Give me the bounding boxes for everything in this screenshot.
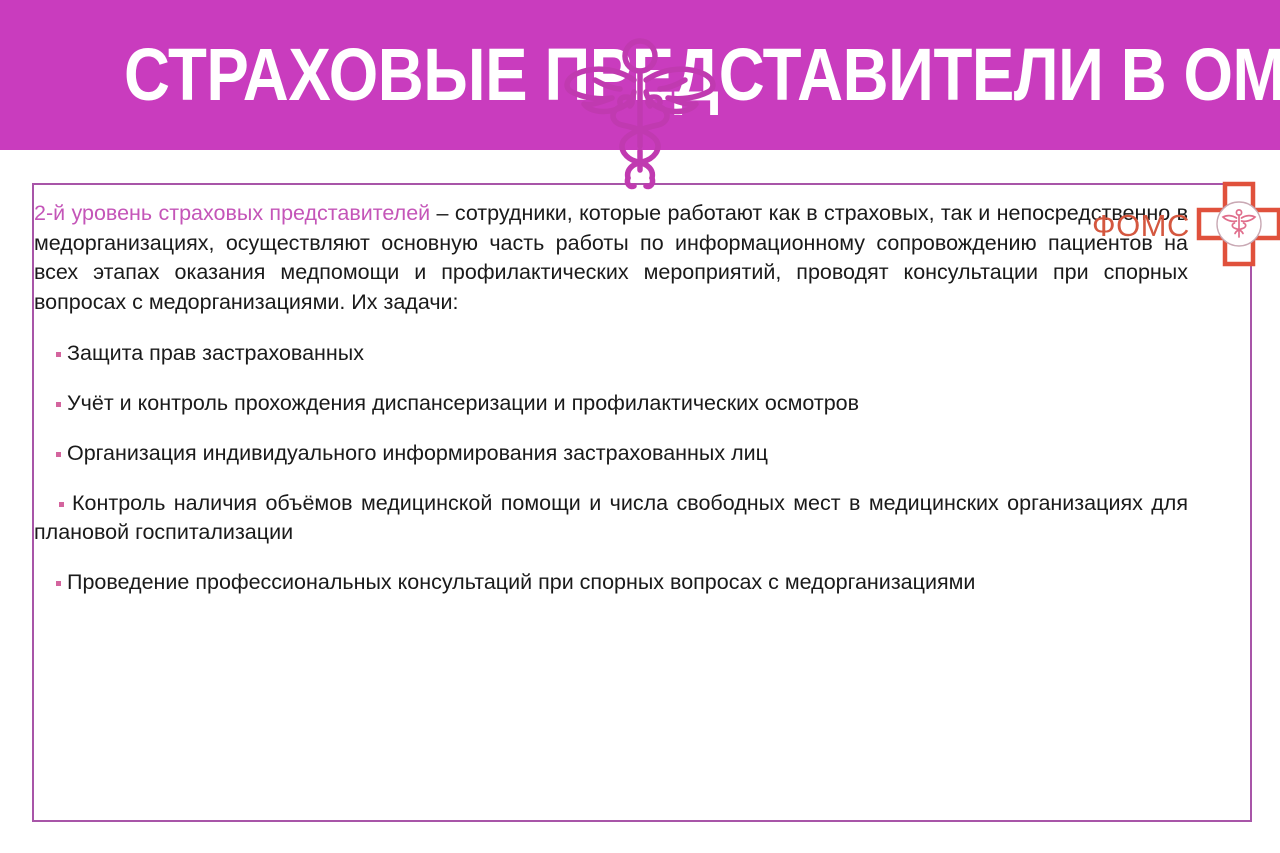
list-item: Организация индивидуального информирован… — [34, 439, 1188, 468]
bullet-square-icon — [56, 581, 61, 586]
list-item-label: Организация индивидуального информирован… — [67, 441, 768, 465]
lead-paragraph: 2-й уровень страховых представителей – с… — [34, 199, 1188, 317]
foms-wordmark: ФОМС — [1092, 210, 1190, 241]
bullet-square-icon — [56, 402, 61, 407]
list-item-label: Учёт и контроль прохождения диспансериза… — [67, 391, 859, 415]
tasks-list: Защита прав застрахованных Учёт и контро… — [34, 339, 1188, 597]
bullet-square-icon — [59, 502, 64, 507]
list-item-label: Проведение профессиональных консультаций… — [67, 570, 975, 594]
list-item: Защита прав застрахованных — [34, 339, 1188, 368]
list-item-label: Контроль наличия объёмов медицинской пом… — [34, 489, 1188, 547]
body-text-container: 2-й уровень страховых представителей – с… — [34, 199, 1188, 618]
foms-logo: ФОМС — [1092, 178, 1260, 270]
list-item: Проведение профессиональных консультаций… — [34, 568, 1188, 597]
list-item: Учёт и контроль прохождения диспансериза… — [34, 389, 1188, 418]
caduceus-emblem-container — [0, 18, 1280, 203]
list-item-label: Защита прав застрахованных — [67, 341, 364, 365]
caduceus-icon — [550, 18, 730, 203]
lead-highlight-term: 2-й уровень страховых представителей — [34, 201, 430, 225]
list-item: Контроль наличия объёмов медицинской пом… — [34, 489, 1188, 547]
bullet-square-icon — [56, 452, 61, 457]
medical-cross-caduceus-icon — [1196, 181, 1280, 267]
bullet-square-icon — [56, 352, 61, 357]
